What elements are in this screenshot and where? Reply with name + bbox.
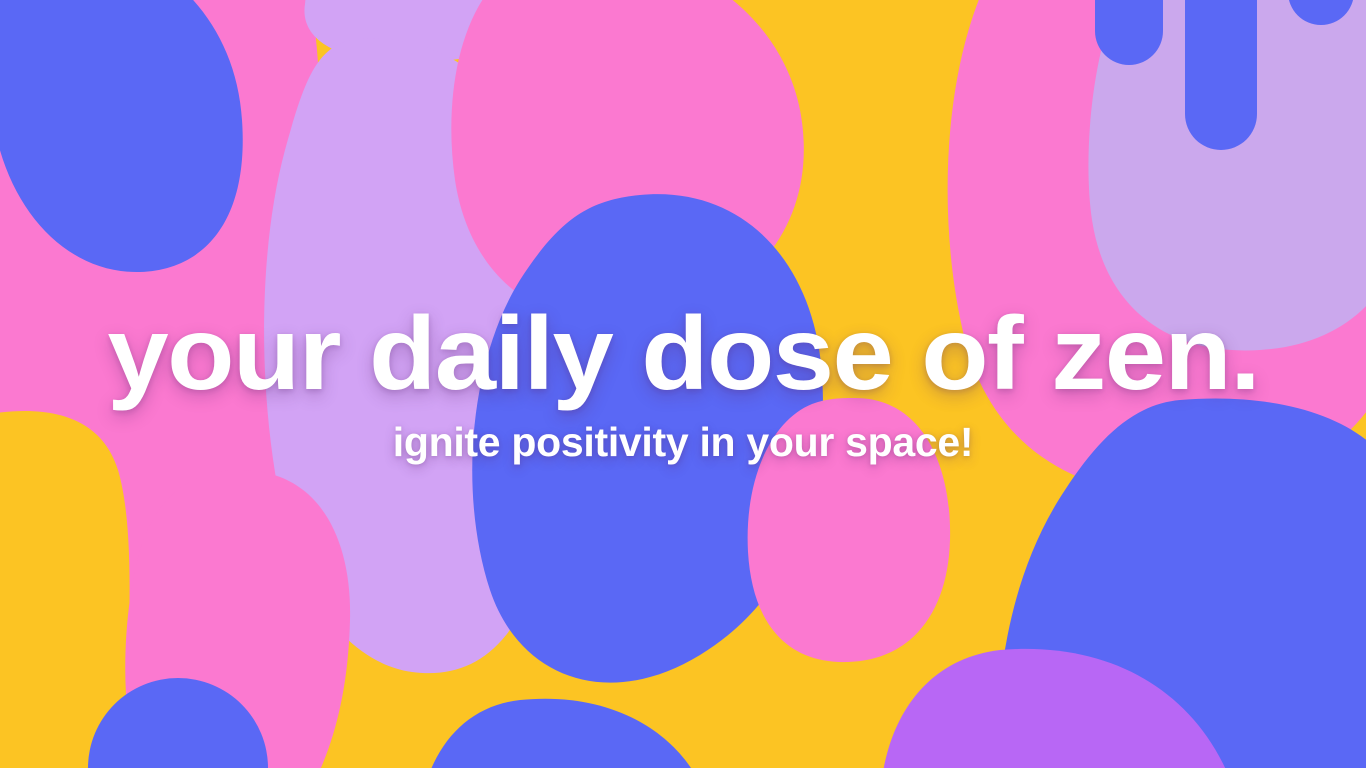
zen-promo-banner: your daily dose of zen. ignite positivit… xyxy=(0,0,1366,768)
abstract-blob-background xyxy=(0,0,1366,768)
blue-pill-top-right-large xyxy=(1185,0,1257,150)
blue-pill-top-right-small xyxy=(1095,0,1163,65)
pink-egg-blob-center-bottom xyxy=(748,398,950,662)
